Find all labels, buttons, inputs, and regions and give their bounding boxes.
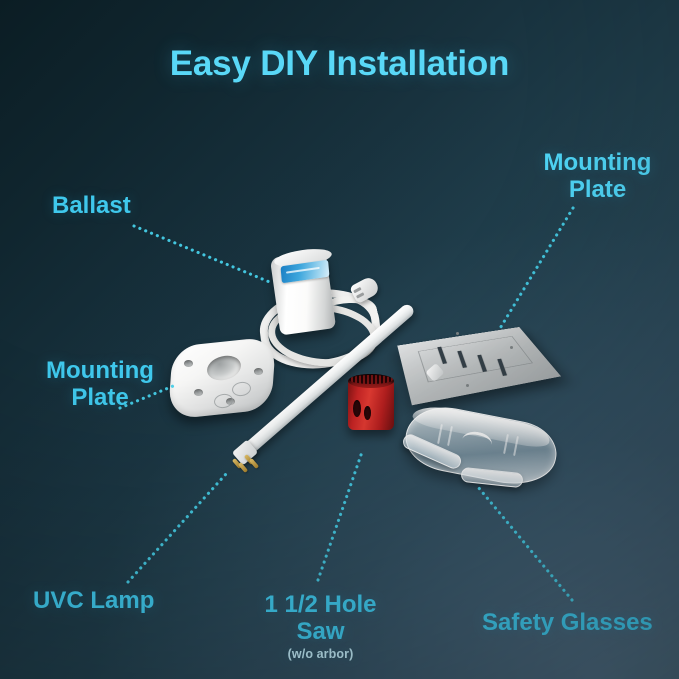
label-mounting-plate-left: Mounting Plate [30,358,170,412]
plate-screw-hole [184,360,193,367]
plate-screw-hole [510,346,513,349]
hole-saw-slot [353,400,361,417]
label-hole-saw-main: 1 1/2 Hole Saw [264,591,376,645]
plug-prong [353,287,361,293]
page-title: Easy DIY Installation [0,44,679,84]
plate-screw-hole [466,384,469,387]
infographic-canvas: Easy DIY Installation Ballast Mounting P… [0,0,679,679]
plate-screw-hole [194,389,203,396]
product-parts-scene [0,0,679,679]
hole-saw-teeth [349,375,393,384]
label-mounting-plate-right: Mounting Plate [535,150,660,204]
label-safety-glasses: Safety Glasses [482,610,653,637]
hole-saw-slot [364,406,371,420]
lamp-pin [249,458,259,469]
mounting-plate-metal-part [404,310,544,410]
label-uvc-lamp: UVC Lamp [33,588,154,615]
safety-glasses-part [405,408,565,508]
label-hole-saw: 1 1/2 Hole Saw(w/o arbor) [243,592,398,661]
label-hole-saw-note: (w/o arbor) [243,647,398,661]
hole-saw-part [348,372,394,432]
plug-prong [356,292,364,298]
plate-screw-hole [456,332,459,335]
label-ballast: Ballast [52,193,131,220]
lamp-pin [238,462,248,473]
